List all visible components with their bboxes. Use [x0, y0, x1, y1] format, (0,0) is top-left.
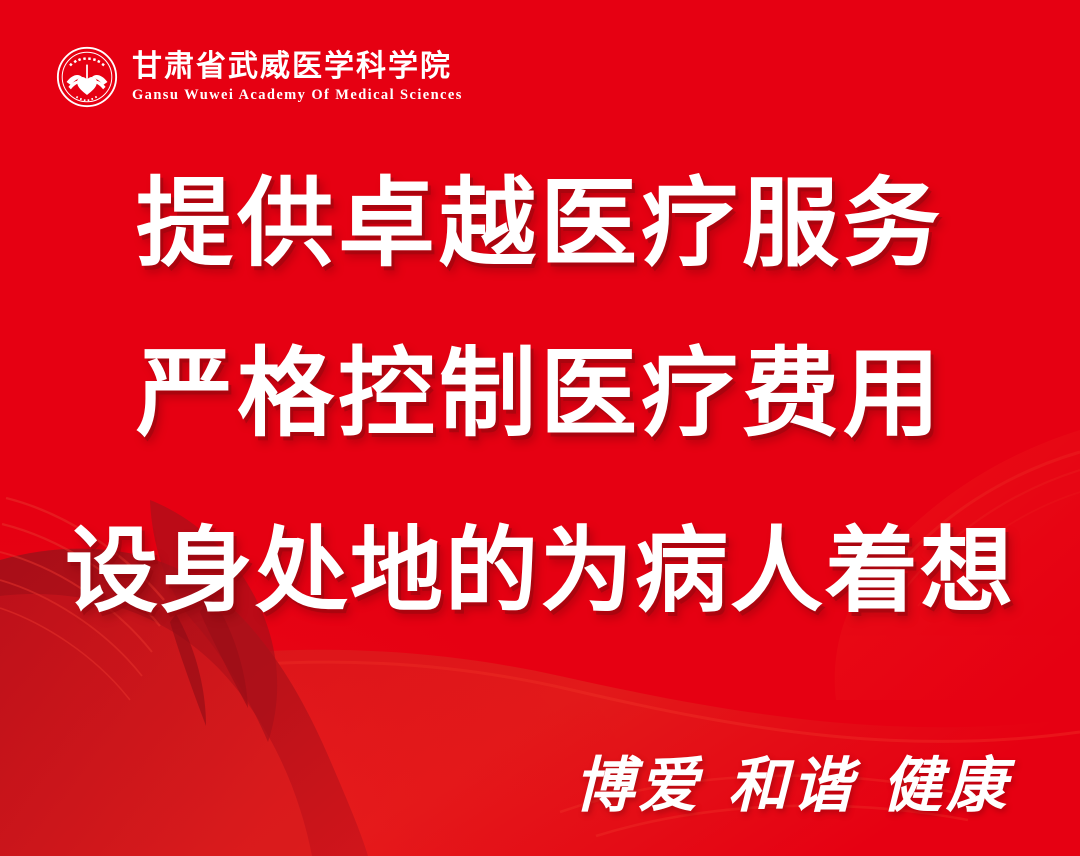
- organization-name-en: Gansu Wuwei Academy Of Medical Sciences: [132, 86, 463, 104]
- ribbon-streak: [170, 614, 206, 726]
- motto-word-2: 和谐: [728, 756, 856, 816]
- ribbon-spike-inner: [200, 594, 248, 708]
- motto-word-1: 博爱: [574, 756, 702, 816]
- ribbon-glow: [0, 490, 670, 856]
- silk-ribbon-background: [0, 0, 1080, 856]
- slogan-block: 提供卓越医疗服务 严格控制医疗费用 设身处地的为病人着想: [0, 0, 1080, 856]
- motto-word-3: 健康: [882, 756, 1010, 816]
- ribbon-spike: [150, 500, 277, 742]
- slogan-line-2: 严格控制医疗费用: [0, 345, 1080, 442]
- ribbon-wave-highlight: [0, 662, 1080, 741]
- logo-lockup[interactable]: 甘肃省武威医学科学院 Gansu Wuwei Academy Of Medica…: [56, 46, 463, 108]
- ribbon-fold-lines: [0, 498, 164, 700]
- ribbon-fold-left-inner: [0, 594, 312, 856]
- organization-name-cn: 甘肃省武威医学科学院: [132, 52, 463, 83]
- slogan-line-1: 提供卓越医疗服务: [0, 175, 1080, 272]
- poster-canvas: 甘肃省武威医学科学院 Gansu Wuwei Academy Of Medica…: [0, 0, 1080, 856]
- motto-calligraphy: 博爱 和谐 健康: [574, 756, 1010, 816]
- ribbon-right-curves: [835, 430, 1080, 700]
- slogan-line-3: 设身处地的为病人着想: [0, 525, 1080, 618]
- logo-textblock: 甘肃省武威医学科学院 Gansu Wuwei Academy Of Medica…: [132, 50, 463, 104]
- ribbon-fold-left: [0, 549, 368, 856]
- academy-seal-icon: [56, 46, 118, 108]
